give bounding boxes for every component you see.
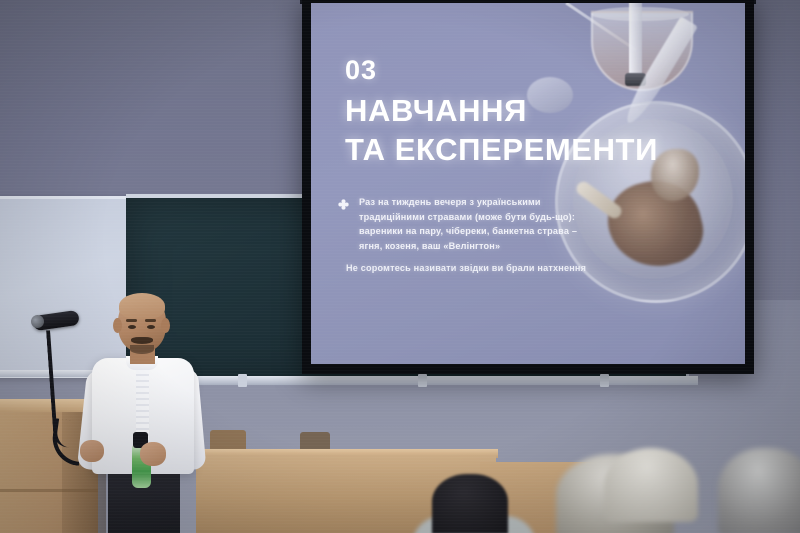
presenter-brow-right <box>145 319 156 322</box>
slide-number: 03 <box>345 55 377 86</box>
lecture-hall-scene: 03 НАВЧАННЯ ТА ЕКСПЕРЕМЕНТИ Раз на тижде… <box>0 0 800 533</box>
audience-head-light-hair-back <box>604 448 698 522</box>
presenter <box>86 294 206 533</box>
presenter-eye-left <box>128 325 136 329</box>
presenter-ear-left <box>113 318 122 333</box>
rail-clip <box>418 374 427 387</box>
slide-title-line-1: НАВЧАННЯ <box>345 91 658 130</box>
audience-head-dark-hair <box>432 474 508 533</box>
presenter-bald-scalp <box>119 293 165 319</box>
presenter-hand-right <box>140 442 166 466</box>
slide-footnote: Не соромтесь називати звідки ви брали на… <box>346 263 636 273</box>
slide-bullet: Раз на тиждень вечеря з українськими тра… <box>338 195 598 254</box>
presenter-ear-right <box>161 318 170 333</box>
presenter-brow-left <box>126 319 137 322</box>
podium-panel-line <box>0 489 98 492</box>
rail-clip <box>238 374 247 387</box>
flower-bullet-icon <box>338 197 349 254</box>
presenter-hand-left <box>80 440 104 462</box>
presenter-beard <box>130 345 154 354</box>
slide-title-line-2: ТА ЕКСПЕРЕМЕНТИ <box>345 130 658 169</box>
audience-head-grey-hair <box>718 448 800 533</box>
slide-bullet-text: Раз на тиждень вечеря з українськими тра… <box>359 195 598 254</box>
whisk-handle <box>629 3 642 79</box>
slide-title: НАВЧАННЯ ТА ЕКСПЕРЕМЕНТИ <box>345 91 658 170</box>
projection-screen: 03 НАВЧАННЯ ТА ЕКСПЕРЕМЕНТИ Раз на тижде… <box>302 0 754 374</box>
rail-clip <box>600 374 609 387</box>
presenter-eye-right <box>147 325 155 329</box>
presenter-mustache <box>131 337 153 344</box>
presentation-slide: 03 НАВЧАННЯ ТА ЕКСПЕРЕМЕНТИ Раз на тижде… <box>311 3 745 364</box>
